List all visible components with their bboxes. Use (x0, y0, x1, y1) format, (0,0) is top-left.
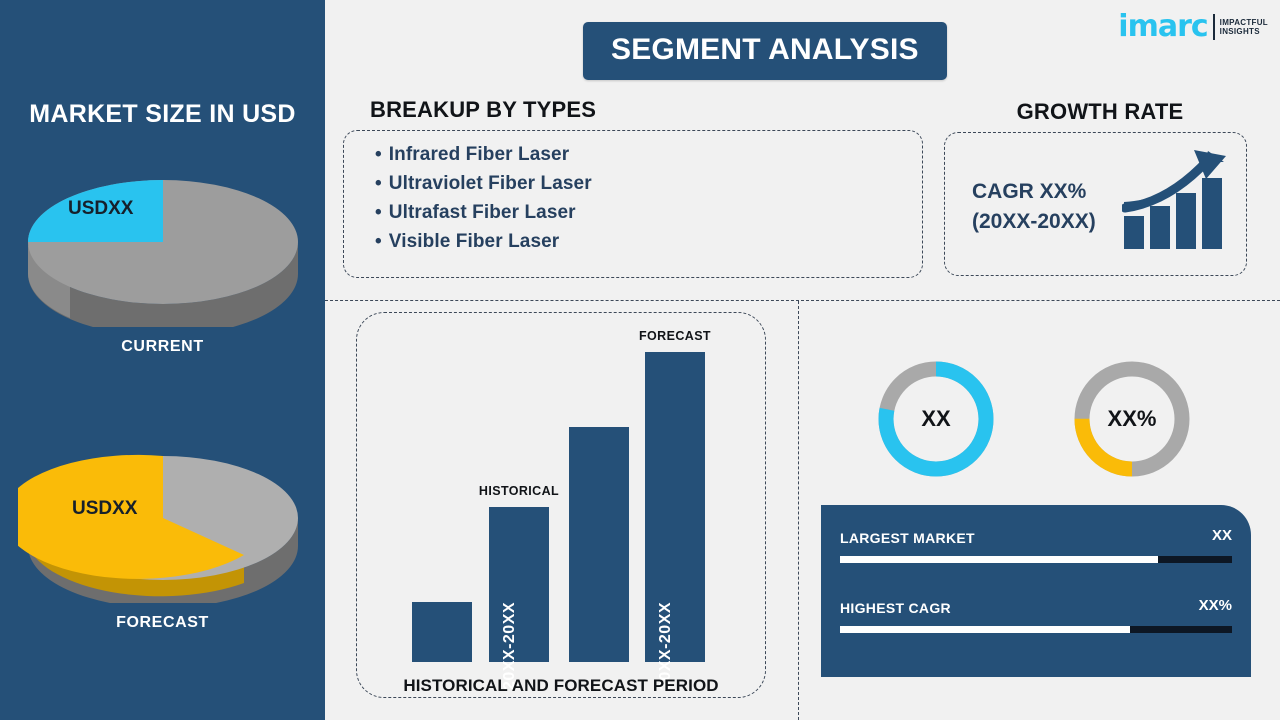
progress-fill (840, 556, 1158, 563)
list-item: •Visible Fiber Laser (375, 227, 915, 256)
stat-row-highest-cagr: HIGHEST CAGR XX% (840, 600, 1232, 633)
stat-row-largest-market: LARGEST MARKET XX (840, 530, 1232, 563)
stat-header: LARGEST MARKET XX (840, 530, 1232, 552)
type-label: Ultraviolet Fiber Laser (389, 173, 592, 194)
types-list: •Infrared Fiber Laser •Ultraviolet Fiber… (375, 140, 915, 256)
logo-tagline-line1: IMPACTFUL (1220, 18, 1268, 27)
type-label: Ultrafast Fiber Laser (389, 202, 576, 223)
cagr-text: CAGR XX% (20XX-20XX) (972, 177, 1096, 237)
cagr-line-2: (20XX-20XX) (972, 207, 1096, 237)
donut-chart-right: XX% (1068, 355, 1196, 483)
bullet-icon: • (375, 231, 382, 252)
historical-annotation: HISTORICAL (469, 484, 569, 498)
logo-tagline-line2: INSIGHTS (1220, 27, 1268, 36)
growth-arrow-chart-icon (1122, 148, 1232, 253)
stat-value: XX (1212, 527, 1232, 544)
pie-current-caption: CURRENT (0, 338, 325, 356)
table-row (569, 427, 629, 662)
list-item: •Ultraviolet Fiber Laser (375, 169, 915, 198)
pie-forecast-caption: FORECAST (0, 614, 325, 632)
types-heading: BREAKUP BY TYPES (370, 97, 596, 123)
pie-current-label: USDXX (68, 198, 133, 220)
pie-chart-current: USDXX (0, 152, 325, 332)
donut-right-value: XX% (1068, 355, 1196, 483)
header-band: SEGMENT ANALYSIS imarc IMPACTFUL INSIGHT… (325, 0, 1280, 92)
market-size-current-block: USDXX CURRENT (0, 152, 325, 356)
pie-chart-forecast: USDXX (0, 428, 325, 608)
list-item: •Infrared Fiber Laser (375, 140, 915, 169)
imarc-logo: imarc IMPACTFUL INSIGHTS (1118, 12, 1268, 42)
market-size-forecast-block: USDXX FORECAST (0, 428, 325, 632)
bullet-icon: • (375, 202, 382, 223)
donut-left-value: XX (872, 355, 1000, 483)
historical-forecast-bar-chart: 20XX-20XX 20XX-20XX HISTORICAL FORECAST (356, 312, 766, 698)
logo-tagline: IMPACTFUL INSIGHTS (1220, 18, 1268, 36)
stat-header: HIGHEST CAGR XX% (840, 600, 1232, 622)
stat-value: XX% (1199, 597, 1232, 614)
bar-chart-axis-label: HISTORICAL AND FORECAST PERIOD (356, 676, 766, 696)
logo-divider-icon (1213, 14, 1215, 40)
bullet-icon: • (375, 144, 382, 165)
forecast-annotation: FORECAST (625, 329, 725, 343)
infographic-root: MARKET SIZE IN USD USDXX CURRENT (0, 0, 1280, 720)
horizontal-divider (325, 300, 1280, 301)
page-title: SEGMENT ANALYSIS (583, 22, 947, 80)
pie-forecast-svg (18, 428, 308, 603)
sidebar-title: MARKET SIZE IN USD (0, 100, 325, 129)
type-label: Visible Fiber Laser (389, 231, 560, 252)
bullet-icon: • (375, 173, 382, 194)
sidebar-panel: MARKET SIZE IN USD USDXX CURRENT (0, 0, 325, 720)
table-row: 20XX-20XX (489, 507, 549, 662)
table-row: 20XX-20XX (645, 352, 705, 662)
donut-chart-left: XX (872, 355, 1000, 483)
logo-wordmark: imarc (1118, 12, 1207, 42)
growth-heading: GROWTH RATE (940, 99, 1260, 125)
progress-track (840, 626, 1232, 633)
pie-forecast-label: USDXX (72, 498, 137, 520)
cagr-line-1: CAGR XX% (972, 177, 1096, 207)
progress-track (840, 556, 1232, 563)
type-label: Infrared Fiber Laser (389, 144, 569, 165)
vertical-divider (798, 301, 799, 720)
list-item: •Ultrafast Fiber Laser (375, 198, 915, 227)
table-row (412, 602, 472, 662)
stat-label: LARGEST MARKET (840, 530, 975, 546)
stats-panel: LARGEST MARKET XX HIGHEST CAGR XX% (821, 505, 1251, 677)
pie-current-svg (18, 152, 308, 327)
progress-fill (840, 626, 1130, 633)
stat-label: HIGHEST CAGR (840, 600, 951, 616)
